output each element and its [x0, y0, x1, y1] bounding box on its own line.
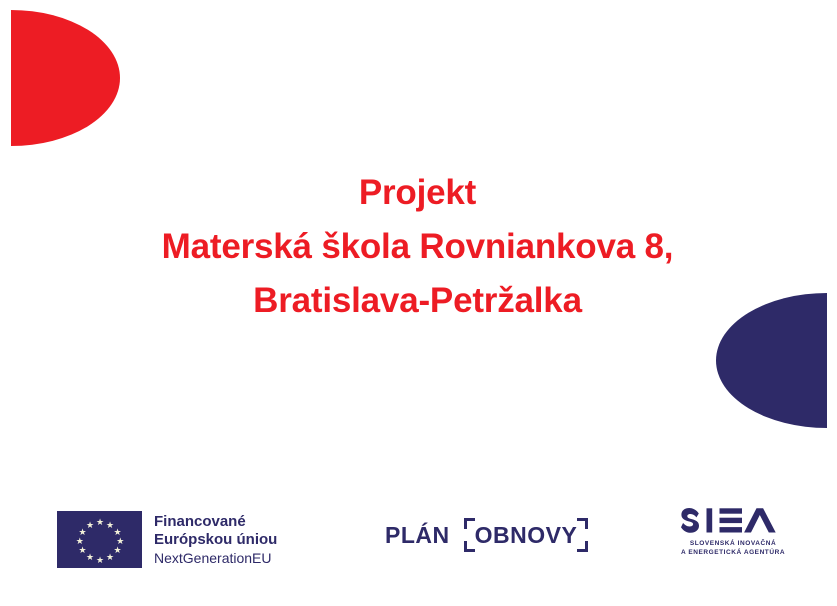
- eu-text-line-3: NextGenerationEU: [154, 549, 277, 568]
- plan-word-obnovy: OBNOVY: [475, 522, 578, 548]
- eu-text-line-2: Európskou úniou: [154, 531, 277, 549]
- bracket-top-right-icon: [577, 518, 588, 529]
- siea-subtitle-line-1: SLOVENSKÁ INOVAČNÁ: [681, 540, 785, 549]
- siea-wordmark-icon: [681, 506, 780, 537]
- footer-logo-strip: ★ ★ ★ ★ ★ ★ ★ ★ ★ ★ ★ ★ Financované Euró…: [0, 500, 837, 590]
- plan-bracket-group: OBNOVY: [464, 522, 589, 548]
- european-union-flag-icon: ★ ★ ★ ★ ★ ★ ★ ★ ★ ★ ★ ★: [57, 511, 142, 568]
- plan-obnovy-logo: PLÁN OBNOVY: [385, 522, 588, 548]
- siea-logo: SLOVENSKÁ INOVAČNÁ A ENERGETICKÁ AGENTÚR…: [681, 506, 785, 557]
- siea-subtitle-line-2: A ENERGETICKÁ AGENTÚRA: [681, 549, 785, 558]
- page-title: Projekt Materská škola Rovniankova 8, Br…: [0, 166, 837, 328]
- title-line-3: Bratislava-Petržalka: [0, 274, 837, 328]
- bracket-bottom-left-icon: [464, 541, 475, 552]
- bracket-top-left-icon: [464, 518, 475, 529]
- plan-word-plan: PLÁN: [385, 522, 450, 548]
- eu-funding-logo: ★ ★ ★ ★ ★ ★ ★ ★ ★ ★ ★ ★ Financované Euró…: [57, 511, 277, 568]
- red-half-circle-shape: [11, 10, 120, 146]
- bracket-bottom-right-icon: [577, 541, 588, 552]
- presentation-slide: Projekt Materská škola Rovniankova 8, Br…: [0, 0, 837, 606]
- eu-text-line-1: Financované: [154, 513, 277, 531]
- title-line-1: Projekt: [0, 166, 837, 220]
- title-line-2: Materská škola Rovniankova 8,: [0, 220, 837, 274]
- eu-funding-text: Financované Európskou úniou NextGenerati…: [154, 511, 277, 568]
